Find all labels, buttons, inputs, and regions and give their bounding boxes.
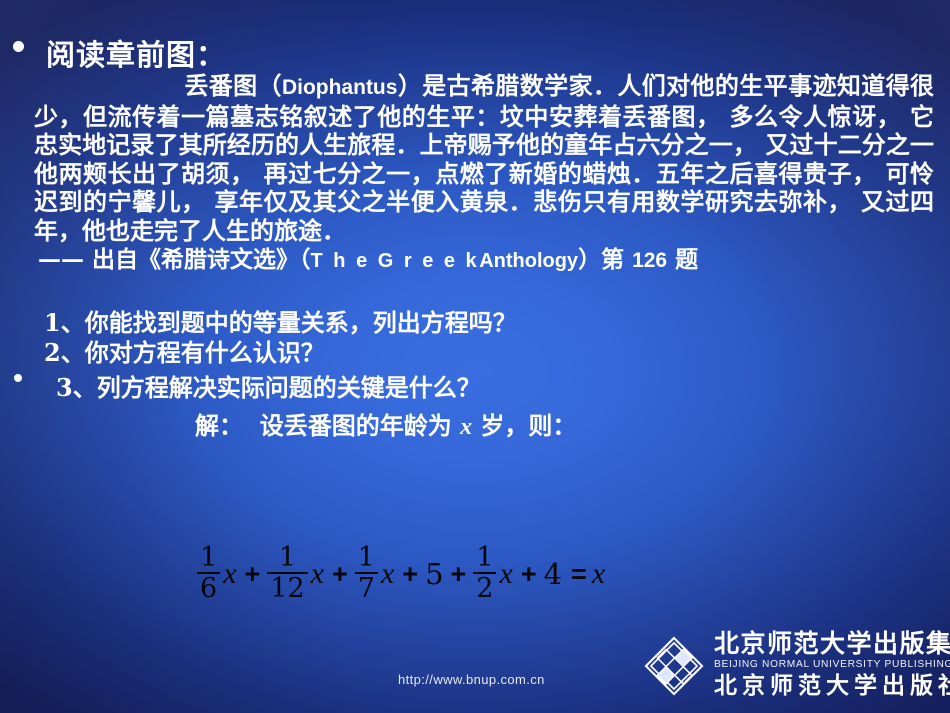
fraction-1-12: 1 12 [267, 544, 307, 602]
question-3: 3、列方程解决实际问题的关键是什么？ [56, 368, 481, 403]
solution-line: 解： 设丢番图的年龄为 x 岁，则： [195, 406, 576, 441]
footer-url[interactable]: http://www.bnup.com.cn [398, 672, 545, 687]
solution-text-after: 岁，则： [480, 411, 576, 440]
source-citation: —— 出自《希腊诗文选》（T h e G r e e kAnthology）第 … [38, 240, 698, 274]
solution-variable: x [460, 414, 472, 440]
fraction-numerator: 1 [355, 544, 378, 572]
logo-subname-cn: 北京师范大学出版社 [714, 672, 950, 701]
logo-name-cn: 北京师范大学出版集团 [714, 630, 950, 657]
slide-canvas: 阅读章前图： 丢番图（Diophantus）是古希腊数学家．人们对他的生平事迹知… [0, 0, 950, 713]
logo-name-en: BEIJING NORMAL UNIVERSITY PUBLISHING GRO… [714, 657, 950, 672]
paragraph-lead: 丢番图（ [184, 71, 282, 100]
fraction-1-6: 1 6 [197, 544, 220, 602]
source-prefix: 出自《希腊诗文选》（ [92, 246, 311, 273]
operator-plus-1: + [239, 561, 267, 588]
publisher-logo: 北京师范大学出版集团 BEIJING NORMAL UNIVERSITY PUB… [636, 618, 950, 713]
variable-x-3: x [379, 559, 396, 589]
question-2: 2、你对方程有什么认识？ [44, 333, 325, 368]
diamond-grid-logo-icon [642, 634, 706, 698]
variable-x-2: x [309, 559, 326, 589]
variable-x-4: x [497, 559, 514, 589]
fraction-numerator: 1 [473, 544, 496, 572]
fraction-1-7: 1 7 [355, 544, 378, 602]
source-unit: 题 [675, 246, 698, 273]
solution-text-before: 设丢番图的年龄为 [260, 411, 452, 440]
paragraph-rest: ）是古希腊数学家．人们对他的生平事迹知道得很少，但流传着一篇墓志铭叙述了他的生平… [34, 71, 934, 245]
fraction-denominator: 2 [473, 574, 496, 602]
source-suffix: ）第 [578, 246, 624, 273]
operator-equals: = [563, 561, 590, 588]
operator-plus-5: + [515, 561, 543, 588]
story-paragraph: 丢番图（Diophantus）是古希腊数学家．人们对他的生平事迹知道得很少，但流… [34, 72, 934, 245]
fraction-1-2: 1 2 [473, 544, 496, 602]
fraction-denominator: 7 [355, 574, 378, 602]
constant-4: 4 [543, 560, 563, 589]
solution-label: 解： [195, 411, 243, 440]
logo-text-block: 北京师范大学出版集团 BEIJING NORMAL UNIVERSITY PUB… [714, 630, 950, 701]
fraction-numerator: 1 [197, 544, 220, 572]
source-dash: —— [38, 246, 92, 273]
fraction-numerator: 1 [276, 544, 299, 572]
page-title: 阅读章前图： [46, 32, 226, 74]
operator-plus-2: + [326, 561, 354, 588]
variable-x-rhs: x [590, 559, 607, 589]
source-latin-tight: Anthology [479, 250, 578, 272]
source-latin-spaced: T h e G r e e k [311, 250, 480, 272]
operator-plus-4: + [445, 561, 473, 588]
equation: 1 6 x + 1 12 x + 1 7 x + 5 + 1 2 x [196, 544, 607, 602]
bullet-dot-icon-1 [13, 41, 24, 52]
variable-x-1: x [221, 559, 238, 589]
operator-plus-3: + [396, 561, 424, 588]
source-number: 126 [632, 249, 667, 272]
fraction-denominator: 6 [197, 574, 220, 602]
constant-5: 5 [424, 560, 444, 589]
bullet-dot-icon-2 [14, 374, 22, 382]
fraction-denominator: 12 [267, 574, 307, 602]
diophantus-name: Diophantus [282, 76, 398, 99]
